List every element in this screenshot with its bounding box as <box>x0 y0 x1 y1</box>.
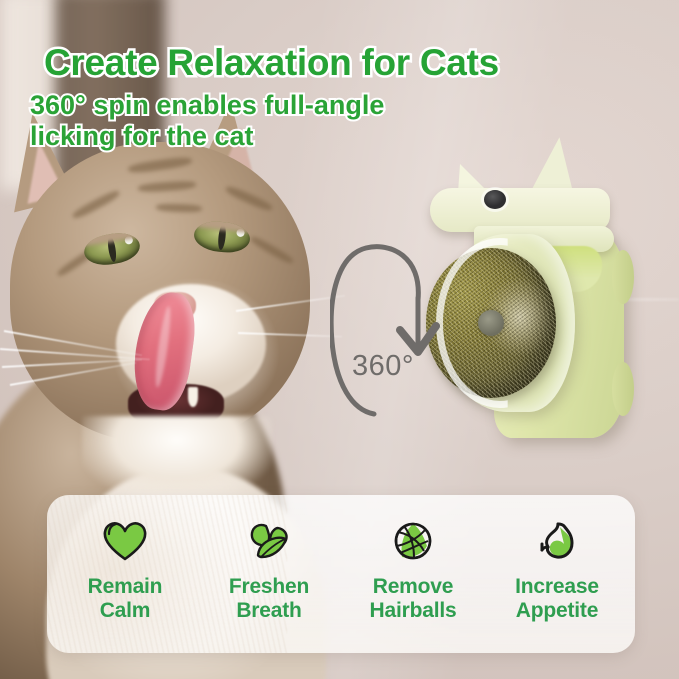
mint-leaf-icon <box>246 515 292 567</box>
feature-label: Remove Hairballs <box>370 575 457 622</box>
cat-cheek-stripe <box>71 188 121 220</box>
hairball-icon <box>390 515 436 567</box>
heart-icon <box>102 515 148 567</box>
page-title: Create Relaxation for Cats <box>44 42 499 84</box>
cat-tooth <box>188 387 198 407</box>
rotation-arrow-icon <box>330 238 440 423</box>
feature-item-increase-appetite: Increase Appetite <box>485 515 629 622</box>
page-subtitle-line-2: licking for the cat <box>30 121 384 152</box>
feature-item-remove-hairballs: Remove Hairballs <box>341 515 485 622</box>
feature-item-freshen-breath: Freshen Breath <box>197 515 341 622</box>
feature-label: Remain Calm <box>88 575 163 622</box>
rotation-label: 360° <box>352 350 414 383</box>
page-subtitle: 360° spin enables full-angle licking for… <box>30 90 384 153</box>
feature-label-line-2: Calm <box>88 599 163 623</box>
feature-label-line-1: Remain <box>88 575 163 599</box>
product-infographic-image: 360° Create Relaxation for Cats 360° spi… <box>0 0 679 679</box>
feature-label: Increase Appetite <box>515 575 599 622</box>
cat-forehead-stripe <box>138 180 196 193</box>
feature-label-line-2: Appetite <box>515 599 599 623</box>
feature-label-line-2: Hairballs <box>370 599 457 623</box>
cat-tongue-highlight <box>153 306 173 388</box>
cat-cheek-stripe <box>249 235 295 266</box>
cat-forehead-stripe <box>128 156 193 175</box>
product-eye <box>484 190 506 209</box>
feature-label-line-1: Freshen <box>229 575 309 599</box>
feature-list: Remain Calm Freshen Breath <box>47 495 635 653</box>
product-catnip-ball-toy <box>418 142 643 442</box>
feature-label-line-1: Increase <box>515 575 599 599</box>
feature-label-line-1: Remove <box>370 575 457 599</box>
feature-label: Freshen Breath <box>229 575 309 622</box>
stomach-icon <box>534 515 580 567</box>
cat-cheek-stripe <box>224 184 273 213</box>
feature-label-line-2: Breath <box>229 599 309 623</box>
cat-forehead-stripe <box>156 203 202 213</box>
page-subtitle-line-1: 360° spin enables full-angle <box>30 90 384 121</box>
feature-item-remain-calm: Remain Calm <box>53 515 197 622</box>
feature-benefits-panel: Remain Calm Freshen Breath <box>47 495 635 653</box>
